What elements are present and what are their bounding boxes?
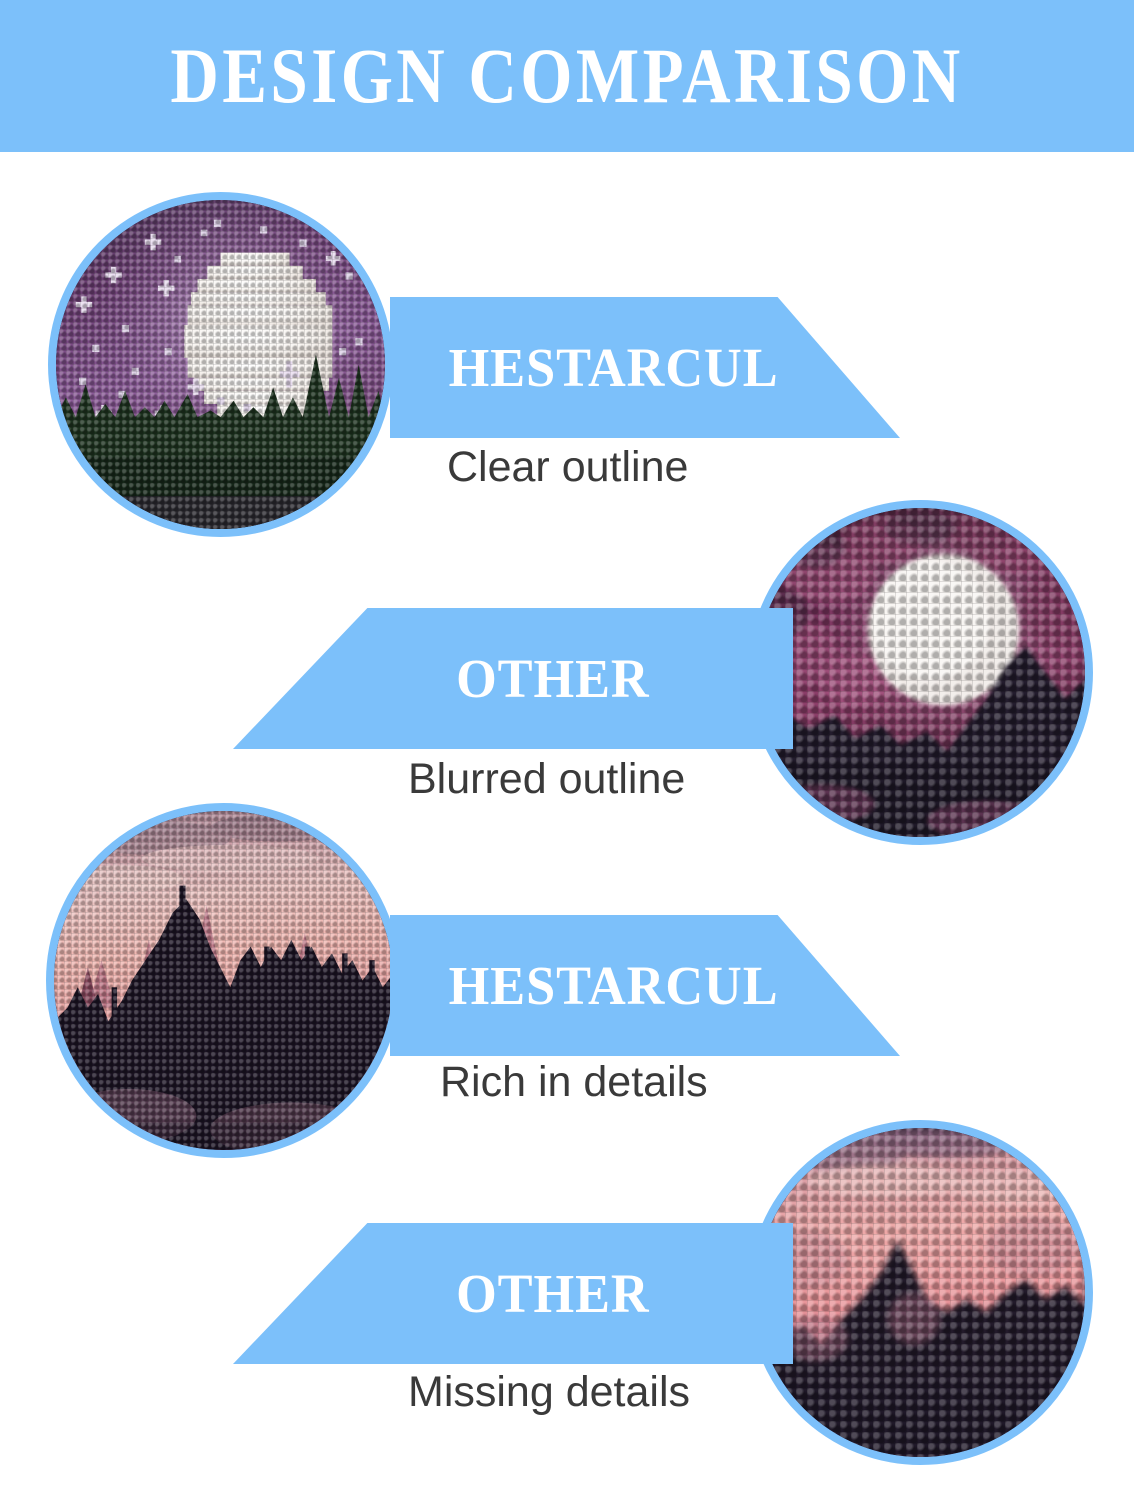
row-4-caption: Missing details <box>408 1368 690 1417</box>
stitched-artwork-sunset-blurred <box>756 1128 1085 1457</box>
comparison-image-3 <box>46 803 401 1158</box>
page-title: DESIGN COMPARISON <box>79 28 1054 124</box>
comparison-image-1 <box>48 192 393 537</box>
comparison-image-4 <box>748 1120 1093 1465</box>
row-3-banner: HESTARCUL <box>390 915 900 1056</box>
row-2-banner-label: OTHER <box>456 647 649 710</box>
row-1-caption: Clear outline <box>447 443 688 492</box>
pink-sunset-pines-scene-blurred <box>756 1128 1085 1457</box>
row-2-caption: Blurred outline <box>408 755 685 804</box>
stitched-artwork-moon-blurred <box>756 508 1085 837</box>
row-1-banner-label: HESTARCUL <box>449 336 779 399</box>
pink-sunset-pines-scene-sharp <box>54 811 393 1150</box>
moon-night-scene-sharp <box>56 200 385 529</box>
stitched-artwork-moon-sharp <box>56 200 385 529</box>
comparison-image-2 <box>748 500 1093 845</box>
row-3-caption: Rich in details <box>440 1058 708 1107</box>
header-banner: DESIGN COMPARISON <box>0 0 1134 152</box>
row-4-banner-label: OTHER <box>456 1262 649 1325</box>
row-1-banner: HESTARCUL <box>390 297 900 438</box>
row-2-banner: OTHER <box>233 608 793 749</box>
moon-night-scene-blurred <box>756 508 1085 837</box>
row-3-banner-label: HESTARCUL <box>449 954 779 1017</box>
row-4-banner: OTHER <box>233 1223 793 1364</box>
stitched-artwork-sunset-sharp <box>54 811 393 1150</box>
